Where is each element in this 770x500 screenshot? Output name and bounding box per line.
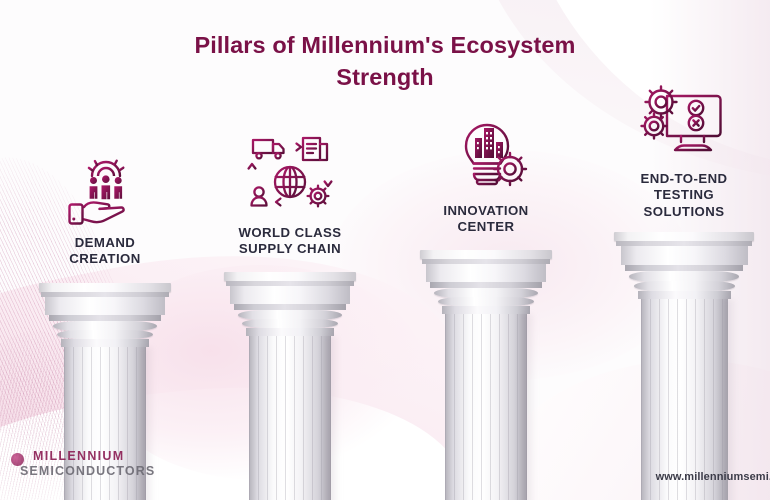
innovation-center-icon-wrap — [388, 108, 584, 196]
supply-chain-globe-truck-icon — [244, 130, 336, 218]
supply-chain-label-line-2: SUPPLY CHAIN — [190, 241, 390, 257]
page-title-line-1: Pillars of Millennium's Ecosystem — [0, 30, 770, 62]
column-shaft — [445, 314, 527, 500]
testing-solutions-label-line-3: SOLUTIONS — [586, 204, 770, 220]
column-abacus — [420, 250, 552, 259]
demand-creation-label: DEMAND CREATION — [0, 235, 210, 268]
world-class-supply-chain-label: WORLD CLASS SUPPLY CHAIN — [190, 225, 390, 258]
demand-creation-label-line-1: DEMAND — [0, 235, 210, 251]
testing-solutions-icon-wrap — [586, 82, 770, 164]
column-neck — [638, 291, 731, 299]
lightbulb-buildings-gear-icon — [440, 108, 532, 196]
column-world-class-supply-chain — [224, 272, 356, 500]
logo-line-1: MILLENNIUM — [20, 449, 155, 463]
demand-creation-label-line-2: CREATION — [0, 251, 210, 267]
column-ring-lower — [57, 330, 153, 339]
hand-holding-people-gear-icon — [62, 150, 148, 228]
column-shaft — [249, 336, 331, 500]
supply-chain-label-line-1: WORLD CLASS — [190, 225, 390, 241]
company-logo: MILLENNIUM SEMICONDUCTORS — [20, 449, 155, 478]
page-title: Pillars of Millennium's Ecosystem Streng… — [0, 30, 770, 93]
column-abacus — [224, 272, 356, 281]
page-title-line-2: Strength — [0, 62, 770, 94]
pillar-demand-creation[interactable]: DEMAND CREATION — [0, 150, 210, 500]
column-bevel — [430, 282, 542, 288]
column-echinus — [621, 246, 748, 265]
column-neck — [246, 328, 334, 336]
infographic-canvas: Pillars of Millennium's Ecosystem Streng… — [0, 0, 770, 500]
monitor-gears-check-cross-icon — [634, 82, 734, 164]
pillar-end-to-end-testing-solutions[interactable]: END-TO-END TESTING SOLUTIONS — [586, 82, 770, 500]
column-drop-shadow — [326, 336, 340, 500]
column-echinus — [230, 286, 350, 304]
column-drop-shadow — [723, 299, 737, 500]
website-url[interactable]: www.millenniumsemi. — [656, 471, 770, 483]
testing-solutions-label-line-1: END-TO-END — [586, 171, 770, 187]
column-end-to-end-testing-solutions — [614, 232, 754, 500]
pillar-world-class-supply-chain[interactable]: WORLD CLASS SUPPLY CHAIN — [190, 130, 390, 500]
column-innovation-center — [420, 250, 552, 500]
column-bevel — [234, 304, 346, 310]
testing-solutions-label-line-2: TESTING — [586, 187, 770, 203]
logo-line-2: SEMICONDUCTORS — [20, 464, 155, 478]
column-shaft — [641, 299, 728, 500]
demand-creation-icon-wrap — [0, 150, 210, 228]
column-ring-lower — [634, 281, 735, 291]
column-neck — [61, 339, 149, 347]
innovation-center-label-line-2: CENTER — [388, 219, 584, 235]
innovation-center-label: INNOVATION CENTER — [388, 203, 584, 236]
column-bevel — [49, 315, 161, 321]
column-abacus — [39, 283, 171, 292]
column-ring-lower — [242, 319, 338, 328]
column-echinus — [426, 264, 546, 282]
end-to-end-testing-solutions-label: END-TO-END TESTING SOLUTIONS — [586, 171, 770, 220]
column-drop-shadow — [522, 314, 536, 500]
column-abacus — [614, 232, 754, 241]
column-ring-lower — [438, 297, 534, 306]
column-echinus — [45, 297, 165, 315]
pillar-innovation-center[interactable]: INNOVATION CENTER — [388, 108, 584, 500]
column-neck — [442, 306, 530, 314]
supply-chain-icon-wrap — [190, 130, 390, 218]
innovation-center-label-line-1: INNOVATION — [388, 203, 584, 219]
